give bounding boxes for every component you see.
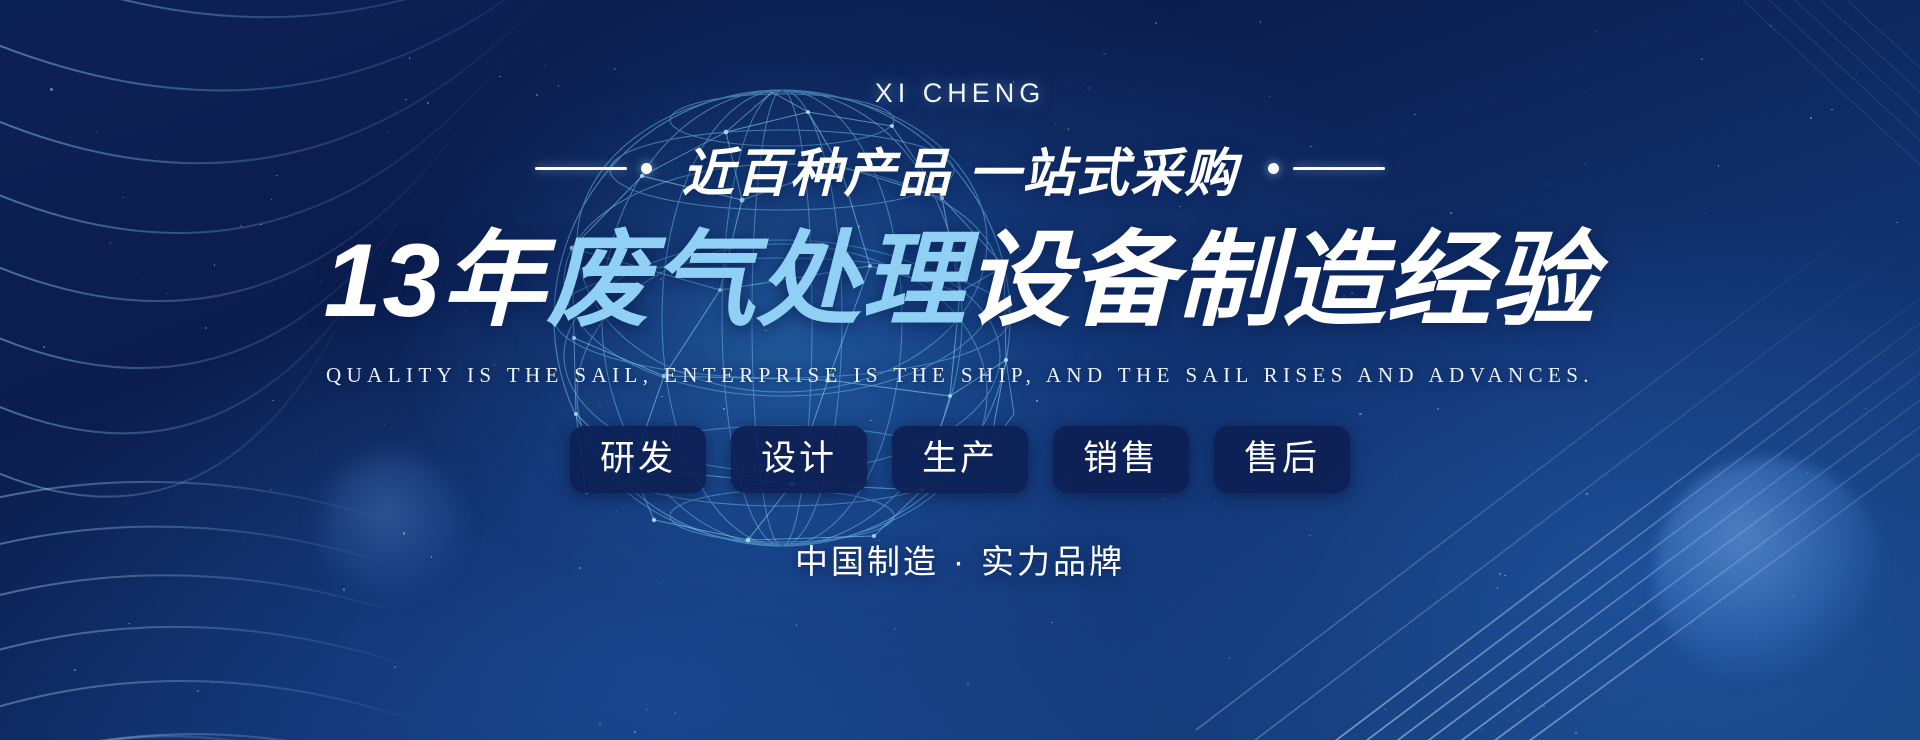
footnote-left: 中国制造 xyxy=(795,543,939,580)
left-rule-decoration xyxy=(535,163,652,174)
service-pill[interactable]: 生产 xyxy=(892,426,1028,494)
rule-dot xyxy=(641,163,652,174)
subtitle-row: 近百种产品 一站式采购 xyxy=(535,131,1385,206)
rule-line xyxy=(535,167,627,170)
service-pill[interactable]: 销售 xyxy=(1053,426,1189,494)
headline-years: 13年 xyxy=(324,223,547,339)
service-pill[interactable]: 设计 xyxy=(731,426,867,494)
subtitle-text: 近百种产品 一站式采购 xyxy=(682,131,1238,206)
service-pill-row: 研发设计生产销售售后 xyxy=(570,426,1350,494)
footnote-separator: · xyxy=(939,543,981,580)
rule-dot xyxy=(1268,163,1279,174)
rule-line xyxy=(1293,167,1385,170)
right-rule-decoration xyxy=(1268,163,1385,174)
service-pill[interactable]: 售后 xyxy=(1214,426,1350,494)
footnote-right: 实力品牌 xyxy=(981,543,1125,580)
headline-highlight: 废气处理 xyxy=(546,223,966,339)
service-pill[interactable]: 研发 xyxy=(570,426,706,494)
headline-tail: 设备制造经验 xyxy=(966,223,1596,339)
english-tagline: QUALITY IS THE SAIL, ENTERPRISE IS THE S… xyxy=(326,363,1594,388)
footnote: 中国制造·实力品牌 xyxy=(795,535,1125,583)
brand-eyebrow: XI CHENG xyxy=(875,78,1046,109)
page-title: 13年废气处理设备制造经验 xyxy=(324,220,1597,343)
hero-banner: XI CHENG 近百种产品 一站式采购 13年废气处理设备制造经验 QUALI… xyxy=(0,0,1920,740)
banner-content: XI CHENG 近百种产品 一站式采购 13年废气处理设备制造经验 QUALI… xyxy=(0,0,1920,740)
